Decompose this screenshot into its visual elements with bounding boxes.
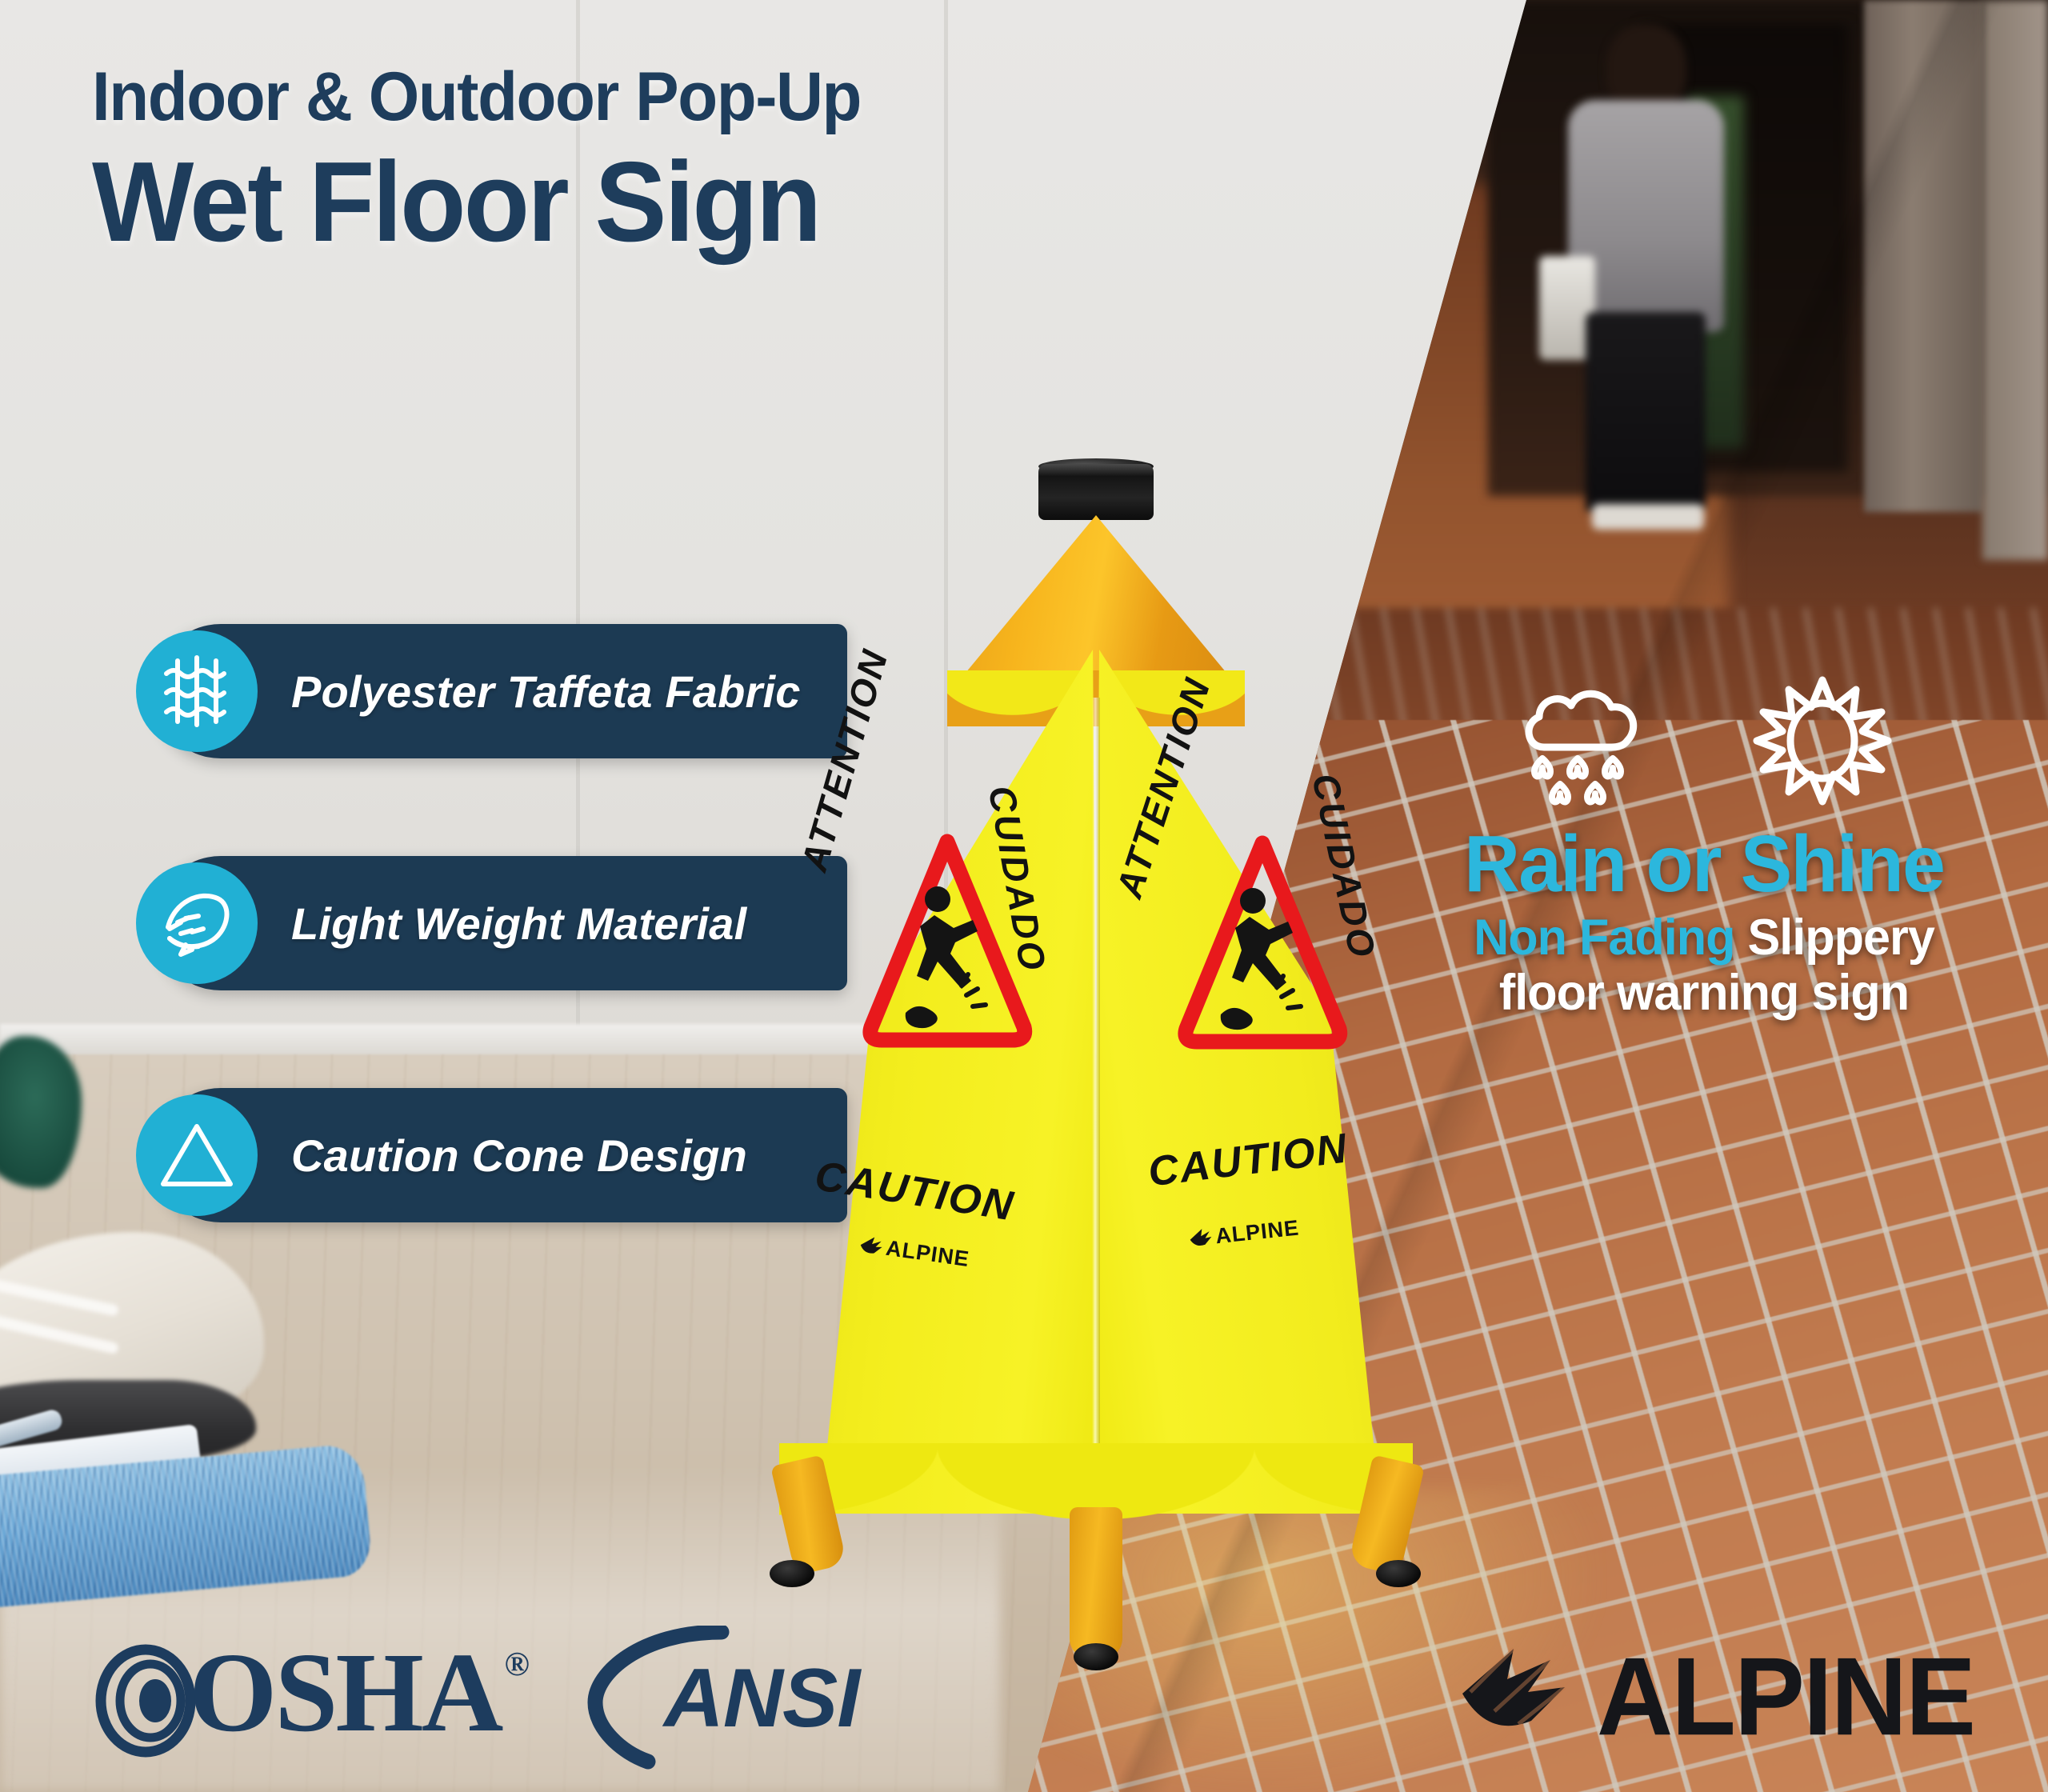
triangle-outline-icon (136, 1094, 258, 1216)
alpine-wordmark: ALPINE (1597, 1633, 1974, 1760)
cone-foot-right (1376, 1560, 1421, 1587)
osha-logo: OSHA ® (94, 1638, 530, 1758)
cone-cap (1038, 464, 1154, 520)
cone-foot-left (770, 1560, 814, 1587)
osha-spiral-icon (94, 1638, 197, 1758)
osha-text: OSHA (189, 1638, 501, 1746)
person-pants (1586, 312, 1706, 512)
pillar (1864, 0, 1984, 512)
alpine-leaf-mark-icon (1458, 1644, 1576, 1750)
cone-panel-right (1093, 650, 1413, 1514)
subtitle-line2: floor warning sign (1499, 965, 1909, 1021)
alpine-brand-logo: ALPINE (1458, 1636, 1974, 1757)
headline-eyebrow: Indoor & Outdoor Pop-Up (92, 62, 1278, 131)
ansi-swoosh-icon (587, 1626, 739, 1770)
certification-logos: OSHA ® ANSI (94, 1630, 859, 1766)
cone-top-orange (950, 515, 1242, 691)
pop-up-caution-cone-product: ATTENTION CUIDADO CAUTION ALPINE ATTENTI… (632, 464, 1560, 1608)
cone-center-ridge (1092, 698, 1100, 1570)
cone-foot-center (1074, 1643, 1118, 1670)
headline-main: Wet Floor Sign (92, 142, 1278, 263)
sun-icon (1752, 672, 1893, 810)
osha-registered-mark: ® (504, 1650, 529, 1682)
person-head (1606, 24, 1686, 112)
page-title: Indoor & Outdoor Pop-Up Wet Floor Sign (92, 62, 1340, 263)
cone-leg-center (1070, 1507, 1122, 1659)
feather-icon (136, 862, 258, 984)
fabric-weave-icon (136, 630, 258, 752)
face-left-attention: ATTENTION (792, 643, 897, 876)
person-shoe (1592, 504, 1704, 530)
subtitle-rest: Slippery (1734, 910, 1934, 966)
walking-person (1544, 24, 1744, 536)
cone-panel-left (782, 650, 1099, 1514)
ansi-logo: ANSI (587, 1630, 859, 1766)
face-right-cuidado: CUIDADO (1303, 770, 1385, 963)
product-banner: Indoor & Outdoor Pop-Up Wet Floor Sign P… (0, 0, 2048, 1792)
pillar-2 (1982, 0, 2048, 560)
flat-mop (0, 1432, 384, 1616)
